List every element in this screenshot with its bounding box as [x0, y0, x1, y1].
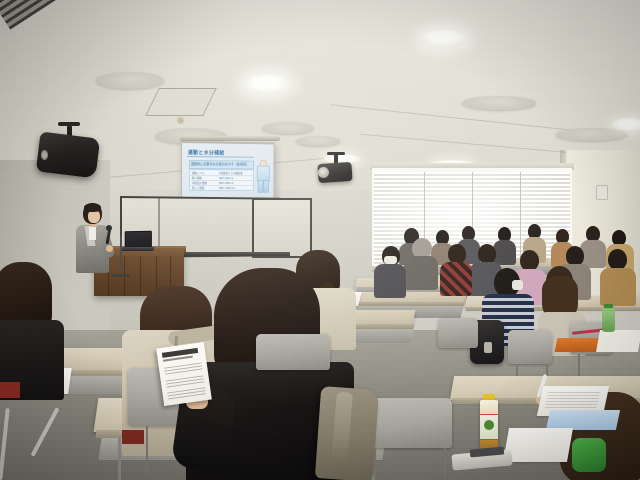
- document: [503, 428, 573, 462]
- ceiling-light-3: [612, 118, 640, 131]
- chair: [256, 334, 330, 370]
- face-mask-icon: [512, 280, 523, 290]
- audience-torso: [440, 262, 472, 296]
- ceiling-light-1: [243, 74, 291, 94]
- presenter-hair: [84, 203, 101, 212]
- air-diffuser-1: [96, 72, 164, 89]
- audience-head: [448, 244, 466, 264]
- audience-head: [478, 244, 496, 264]
- presenter-hand: [106, 245, 113, 252]
- chair-leg: [146, 426, 148, 474]
- slide-table-row: 激しい運動 800〜1000 mL: [190, 185, 253, 190]
- air-diffuser-4: [296, 136, 340, 146]
- document-text-lines: [544, 392, 600, 410]
- chair-leg: [444, 448, 446, 476]
- audience-torso: [404, 256, 438, 290]
- slide-cell: 800〜1000 mL: [219, 186, 235, 190]
- handout-text-block: [166, 375, 205, 388]
- air-diffuser-5: [462, 96, 536, 110]
- audience-head: [520, 250, 539, 271]
- audience-torso: [374, 264, 406, 298]
- podium-slat: [140, 256, 141, 296]
- bottle-label-graphic: [484, 420, 494, 430]
- document: [596, 330, 640, 352]
- audience-head: [608, 249, 627, 270]
- wall-fixture-icon: [596, 185, 608, 200]
- printed-handout: [156, 342, 212, 406]
- microphone-stand: [120, 236, 122, 276]
- slide-body-figure-icon: [255, 160, 270, 193]
- document: [546, 410, 620, 430]
- projector-lens-icon: [318, 167, 329, 178]
- audience-torso: [600, 268, 636, 306]
- chair-cushion: [0, 382, 20, 398]
- audience-torso: [493, 240, 516, 265]
- chair: [508, 330, 552, 364]
- audience-head: [566, 246, 584, 266]
- seminar-room-photo: 運動と水分補給 運動時に必要な水分量のめやす（体重別） 運動レベル 1時間あたり…: [0, 0, 640, 480]
- ceiling-light-2: [420, 29, 468, 47]
- handout-text-block: [164, 362, 203, 376]
- figure-leg-right: [263, 180, 269, 193]
- slide-title-rule: [187, 156, 254, 158]
- chair: [438, 318, 478, 348]
- slide-table: 運動レベル 1時間あたりの補給量 軽い運動 300〜500 mL 中程度の運動 …: [189, 169, 254, 191]
- air-diffuser-3: [262, 122, 314, 134]
- microphone-head-icon: [106, 225, 112, 231]
- presenter-shirt: [89, 226, 96, 240]
- backpack-buckle-icon: [484, 342, 492, 353]
- air-diffuser-6: [556, 128, 626, 141]
- handout-text-block: [167, 387, 206, 400]
- chair-cushion: [122, 430, 144, 444]
- bottle: [602, 308, 615, 332]
- slide-banner-text: 運動時に必要な水分量のめやす（体重別）: [191, 161, 249, 166]
- green-item: [572, 438, 606, 472]
- sprinkler-head-icon: [178, 118, 183, 123]
- face-mask-icon: [384, 256, 397, 264]
- whiteboard-right-panel: [252, 198, 312, 258]
- laptop-keyboard: [121, 247, 154, 251]
- whiteboard-panel-split: [158, 198, 160, 252]
- speaker-cone: [41, 150, 48, 160]
- microphone-stand-base: [112, 274, 130, 277]
- slide-cell: 激しい運動: [192, 186, 205, 190]
- table-leg: [118, 438, 121, 480]
